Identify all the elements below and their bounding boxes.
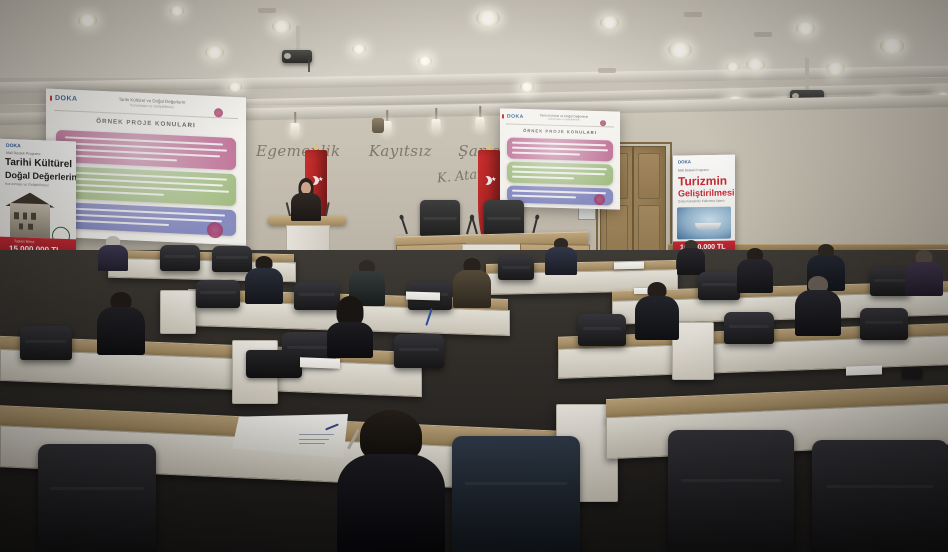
slide-block-pink [56, 130, 236, 170]
banner-logo: DOKA [678, 159, 691, 164]
lamp-shade [291, 123, 300, 137]
person-torso [737, 259, 773, 293]
house-window [31, 213, 36, 220]
audience-member [244, 256, 284, 302]
slide-block-green [56, 166, 236, 206]
audience-member [736, 248, 774, 292]
document-on-desk [846, 365, 882, 375]
audience-member [634, 282, 680, 338]
door-panel [638, 153, 660, 199]
text-line [65, 189, 164, 195]
audience-chair[interactable] [160, 245, 200, 271]
ceiling-light [170, 6, 184, 16]
banner-kicker: Mali Destek Programı [678, 168, 709, 173]
text-line [65, 219, 169, 225]
audience-chair[interactable] [698, 272, 740, 300]
document-on-desk [614, 262, 644, 270]
audience-chair[interactable] [578, 314, 626, 346]
person-torso [337, 454, 445, 552]
text-line [512, 147, 607, 151]
audience-chair[interactable] [20, 326, 72, 360]
audience-member [544, 238, 578, 274]
ceiling-light [205, 46, 224, 59]
slide-seal [600, 120, 606, 126]
audience-chair[interactable] [724, 312, 774, 344]
audience-chair[interactable] [860, 308, 908, 340]
person-torso [98, 245, 128, 271]
conference-hall-photo: Egemenlik Kayıtsız Şartsız Milletindir K… [0, 0, 948, 552]
person-torso [327, 322, 373, 358]
audience-member [676, 240, 706, 274]
banner-heading-1: Turizmin [678, 174, 727, 189]
document-text-line [299, 443, 325, 444]
head-table-chair[interactable] [484, 200, 524, 236]
slide-seal [214, 108, 223, 117]
flag-star: ★ [491, 177, 496, 183]
phone-on-desk [902, 368, 922, 379]
document-text-line [299, 439, 329, 440]
ceiling-light [476, 10, 500, 26]
banner-logo: DOKA [6, 143, 21, 150]
foreground-audience-member [336, 410, 446, 552]
ceiling-vent [258, 8, 276, 13]
wall-sconce [372, 118, 384, 133]
person-torso [677, 248, 705, 275]
audience-chair-front[interactable] [668, 430, 794, 552]
audience-chair[interactable] [498, 256, 534, 280]
banner-heading-1: Tarihi Kültürel [5, 157, 72, 170]
text-line [65, 154, 177, 161]
document-on-desk [300, 357, 340, 369]
calligraphy-word: Kayıtsız [369, 142, 432, 160]
house-body [10, 203, 50, 238]
slide-block-green [507, 162, 613, 186]
projector-cable [308, 58, 310, 72]
audience-chair-front[interactable] [452, 436, 580, 552]
row-end-cap [160, 290, 196, 334]
table-microphone [472, 218, 478, 234]
slide-title: ÖRNEK PROJE KONULARI [500, 127, 620, 135]
laptop-bag [246, 350, 302, 378]
house-window [19, 223, 24, 230]
ceiling-vent [754, 32, 772, 37]
slide-seal [207, 222, 223, 239]
slide-block-pink [507, 138, 613, 162]
pendant-lamp [289, 112, 301, 140]
audience-chair[interactable] [196, 280, 240, 308]
ceiling-light [78, 14, 97, 27]
person-torso [635, 296, 679, 340]
person-torso [97, 307, 145, 355]
ceiling-light [352, 44, 366, 54]
audience-member [794, 276, 842, 334]
table-microphone [466, 218, 472, 234]
text-line [512, 171, 604, 175]
audience-member [96, 236, 130, 270]
presentation-slide-mirror: DOKA Tarihi Kültürel ve Doğal Değerlerin… [500, 108, 620, 209]
ceiling-light [726, 62, 740, 72]
banner-subtext: Doğu Karadeniz Kalkınma Ajansı [678, 199, 725, 204]
pendant-lamp [430, 108, 442, 136]
pendant-lamp [474, 106, 486, 134]
slide-logo: DOKA [55, 95, 78, 103]
audience-chair-front[interactable] [812, 440, 948, 552]
projector-lens [284, 53, 291, 59]
ceiling-light [272, 20, 291, 33]
house-window [14, 212, 19, 219]
audience-chair[interactable] [394, 334, 444, 368]
ceiling-vent [598, 68, 616, 73]
ceiling-light [418, 56, 432, 66]
table-microphone [401, 219, 407, 235]
audience-member [452, 258, 492, 306]
projection-screen-right: DOKA Tarihi Kültürel ve Doğal Değerlerin… [500, 108, 620, 209]
slide-subheader: Korunması ve Geliştirilmesi [534, 117, 594, 122]
audience-member [96, 292, 146, 352]
slide-seal [594, 194, 605, 205]
projector-mount-rod [296, 26, 300, 52]
ceiling-light [746, 58, 765, 71]
ceiling-vent [684, 12, 702, 17]
text-line [512, 190, 605, 194]
banner-photo-boat [695, 223, 721, 230]
calligraphy-word: Egemenlik [256, 142, 340, 160]
document-text-line [299, 434, 334, 435]
document-on-desk [406, 291, 440, 300]
projector-mount-rod [805, 58, 809, 92]
projection-screen-left: DOKA Tarihi Kültürel ve Doğal Değerlerin… [46, 88, 246, 245]
text-line [512, 166, 606, 170]
ceiling-light [880, 38, 904, 54]
text-line [512, 176, 573, 179]
text-line [512, 152, 580, 155]
audience-member [326, 296, 374, 356]
ceiling-light [826, 62, 845, 75]
lamp-shade [432, 119, 441, 133]
slide-rule [506, 123, 614, 127]
speaker [288, 178, 324, 220]
audience-member [904, 250, 944, 294]
ceiling-light [668, 42, 692, 58]
person-torso [905, 262, 943, 296]
speaker-torso [291, 193, 321, 221]
banner-heading-2: Geliştirilmesi [678, 187, 735, 198]
ceiling-light [520, 82, 534, 92]
house-window [23, 212, 28, 219]
lamp-shade [476, 117, 485, 131]
person-torso [453, 270, 491, 308]
presentation-slide: DOKA Tarihi Kültürel ve Doğal Değerlerin… [46, 88, 246, 245]
audience-chair-front[interactable] [38, 444, 156, 552]
ceiling-light [600, 16, 619, 29]
person-torso [245, 268, 283, 304]
ceiling-light [796, 22, 815, 35]
slide-logo: DOKA [507, 114, 524, 120]
text-line [512, 142, 605, 146]
ceiling-light [228, 82, 242, 92]
house-window [28, 223, 33, 230]
head-table-chair[interactable] [420, 200, 460, 236]
person-torso [545, 247, 577, 275]
banner-house-illustration [4, 189, 56, 239]
person-torso [795, 290, 841, 336]
banner-amount-prefix: Toplam Bütçe [14, 239, 35, 244]
